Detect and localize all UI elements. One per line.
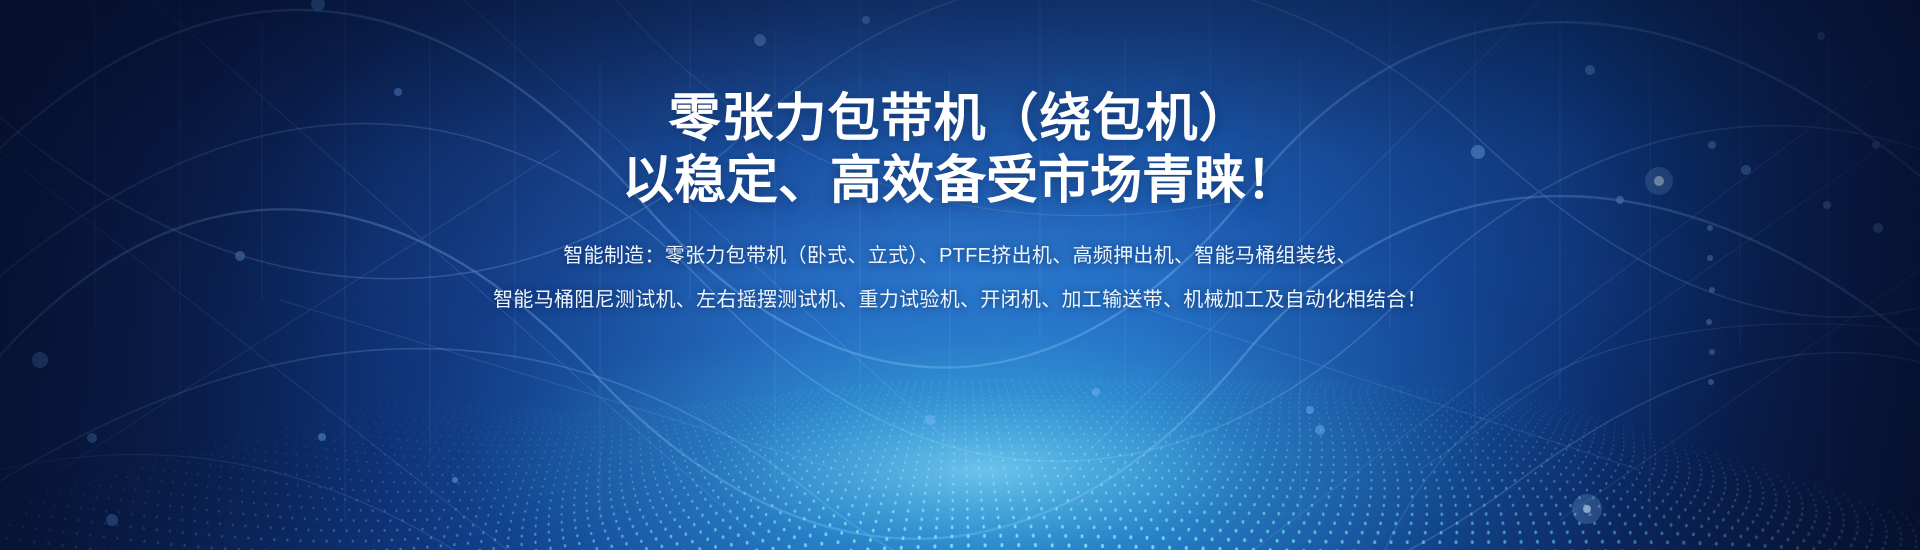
- subtitle-block: 智能制造：零张力包带机（卧式、立式）、PTFE挤出机、高频押出机、智能马桶组装线…: [0, 234, 1920, 322]
- promo-banner: 零张力包带机（绕包机） 以稳定、高效备受市场青睐！ 智能制造：零张力包带机（卧式…: [0, 0, 1920, 550]
- headline-line-1: 零张力包带机（绕包机）: [668, 90, 1251, 148]
- banner-content: 零张力包带机（绕包机） 以稳定、高效备受市场青睐！ 智能制造：零张力包带机（卧式…: [0, 88, 1920, 322]
- headline-line-2: 以稳定、高效备受市场青睐！: [0, 150, 1920, 212]
- subtitle-line-2: 智能马桶阻尼测试机、左右摇摆测试机、重力试验机、开闭机、加工输送带、机械加工及自…: [0, 278, 1920, 322]
- subtitle-line-1: 智能制造：零张力包带机（卧式、立式）、PTFE挤出机、高频押出机、智能马桶组装线…: [0, 234, 1920, 278]
- page-title: 零张力包带机（绕包机） 以稳定、高效备受市场青睐！: [0, 88, 1920, 212]
